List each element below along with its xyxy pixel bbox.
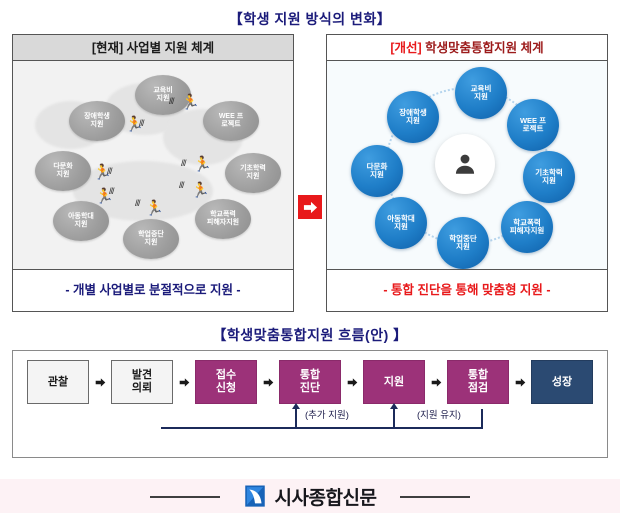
current-system-panel: [현재] 사업별 지원 체계 장애학생 지원 교육비 지원 WEE 프 로젝트 … [12, 34, 294, 312]
support-bubble-dropout: 학업중단 지원 [437, 217, 489, 269]
feedback-line-vertical-right-end [481, 409, 483, 427]
flow-step-discovery-referral: 발견 의뢰 [111, 360, 173, 404]
runner-icon: 🏃/// [125, 117, 144, 132]
feedback-label-support-maintenance: (지원 유지) [417, 407, 461, 421]
improved-system-diagram: 교육비 지원 WEE 프 로젝트 기초학력 지원 학교폭력 피해자지원 학업중단… [327, 61, 607, 269]
current-system-caption: - 개별 사업별로 분절적으로 지원 - [13, 269, 293, 311]
newspaper-logo-icon [242, 483, 268, 509]
feedback-arrow-additional [292, 403, 300, 409]
watermark-rule-left [150, 496, 220, 498]
support-bubble-child-abuse: 아동학대 지원 [375, 197, 427, 249]
runner-icon: 🏃/// [191, 183, 210, 198]
support-bubble-education-fee: 교육비 지원 [455, 67, 507, 119]
comparison-section: [현재] 사업별 지원 체계 장애학생 지원 교육비 지원 WEE 프 로젝트 … [0, 30, 620, 320]
right-arrow-icon [298, 195, 322, 219]
runner-icon: 🏃/// [193, 157, 212, 172]
feedback-arrow-maintain [390, 403, 398, 409]
feedback-label-additional-support: (추가 지원) [305, 407, 349, 421]
feedback-line-vertical-maintain [393, 409, 395, 427]
improved-system-caption: - 통합 진단을 통해 맞춤형 지원 - [327, 269, 607, 311]
support-bubble-child-abuse: 아동학대 지원 [53, 201, 109, 241]
person-icon [452, 151, 478, 177]
support-bubble-dropout: 학업중단 지원 [123, 219, 179, 259]
support-bubble-disabled-students: 장애학생 지원 [387, 91, 439, 143]
flow-section-title: 【학생맞춤통합지원 흐름(안) 】 [0, 320, 620, 346]
support-bubble-school-violence: 학교폭력 피해자지원 [195, 199, 251, 239]
flow-arrow-icon [89, 377, 111, 388]
support-bubble-basic-academic: 기초학력 지원 [225, 153, 281, 193]
flow-step-support: 지원 [363, 360, 425, 404]
flow-chart: 관찰 발견 의뢰 접수 신청 통합 진단 지원 통합 점검 성장 (추가 지원) [12, 350, 608, 458]
feedback-line-vertical-additional [295, 409, 297, 427]
flow-steps-row: 관찰 발견 의뢰 접수 신청 통합 진단 지원 통합 점검 성장 [13, 359, 607, 405]
flow-arrow-icon [425, 377, 447, 388]
runner-icon: 🏃/// [93, 165, 112, 180]
current-system-diagram: 장애학생 지원 교육비 지원 WEE 프 로젝트 다문화 지원 기초학력 지원 … [13, 61, 293, 269]
runner-icon: 🏃/// [145, 201, 164, 216]
flow-arrow-icon [257, 377, 279, 388]
flow-arrow-icon [173, 377, 195, 388]
flow-step-integrated-review: 통합 점검 [447, 360, 509, 404]
page-title: 【학생 지원 방식의 변화】 [0, 0, 620, 30]
feedback-line-horizontal-additional [161, 427, 483, 429]
flow-step-observation: 관찰 [27, 360, 89, 404]
support-bubble-basic-academic: 기초학력 지원 [523, 151, 575, 203]
improved-header-rest: 학생맞춤통합지원 체계 [422, 41, 544, 55]
support-bubble-wee-project: WEE 프 로젝트 [507, 99, 559, 151]
improved-system-panel: [개선] 학생맞춤통합지원 체계 교육비 지원 WEE 프 로젝트 기초학력 지… [326, 34, 608, 312]
runner-icon: 🏃/// [181, 95, 200, 110]
flow-arrow-icon [341, 377, 363, 388]
support-bubble-wee-project: WEE 프 로젝트 [203, 101, 259, 141]
watermark-rule-right [400, 496, 470, 498]
improved-system-header: [개선] 학생맞춤통합지원 체계 [327, 35, 607, 61]
support-bubble-multicultural: 다문화 지원 [35, 151, 91, 191]
watermark-text: 시사종합신문 [273, 483, 379, 510]
student-hub [435, 134, 495, 194]
support-bubble-school-violence: 학교폭력 피해자지원 [501, 201, 553, 253]
improved-header-highlight: [개선] [390, 41, 421, 55]
support-bubble-disabled-students: 장애학생 지원 [69, 101, 125, 141]
runner-icon: 🏃/// [95, 189, 114, 204]
flow-step-application: 접수 신청 [195, 360, 257, 404]
flow-step-growth: 성장 [531, 360, 593, 404]
support-bubble-multicultural: 다문화 지원 [351, 145, 403, 197]
current-system-header: [현재] 사업별 지원 체계 [13, 35, 293, 61]
watermark: 시사종합신문 [0, 479, 620, 513]
flow-arrow-icon [509, 377, 531, 388]
flow-step-integrated-diagnosis: 통합 진단 [279, 360, 341, 404]
